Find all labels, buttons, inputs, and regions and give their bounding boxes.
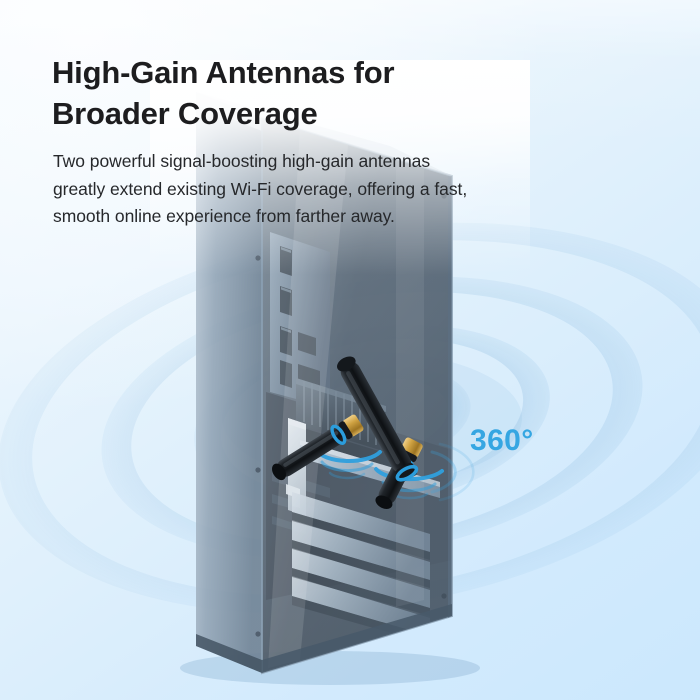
feature-description: Two powerful signal-boosting high-gain a…: [53, 148, 533, 231]
page-title: High-Gain Antennas for Broader Coverage: [52, 52, 482, 134]
rotation-badge: 360°: [470, 424, 534, 458]
feature-banner: High-Gain Antennas for Broader Coverage …: [0, 0, 700, 700]
